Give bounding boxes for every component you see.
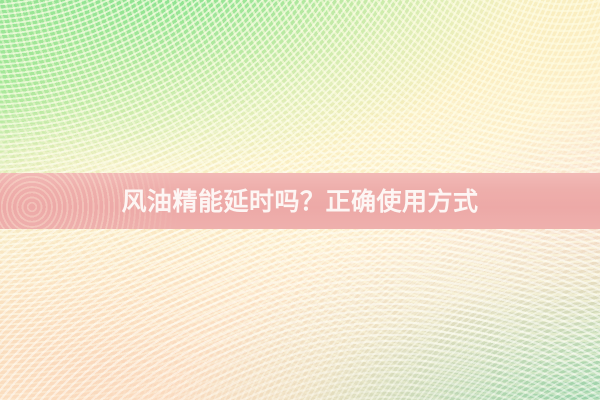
page-title: 风油精能延时吗？正确使用方式 — [121, 189, 478, 214]
decorative-banner: 风油精能延时吗？正确使用方式 — [0, 0, 600, 400]
title-band: 风油精能延时吗？正确使用方式 — [0, 173, 600, 229]
